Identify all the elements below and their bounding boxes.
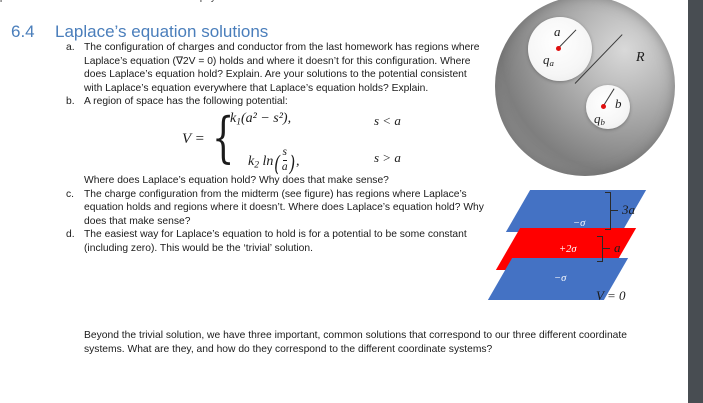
label-charge-qa: qa [543,52,554,68]
label-top-charge-density: −σ [573,218,585,229]
equation-condition-2: s > a [374,151,401,165]
equation-case-2-comma: , [296,154,300,169]
equation-fraction-numerator: s [282,147,288,159]
section-number: 6.4 [11,22,55,42]
label-charge-qa-sub: a [550,58,554,68]
cavity-b [586,85,630,129]
section-title: Laplace’s equation solutions [55,22,268,41]
list-item-a: a. The configuration of charges and cond… [66,41,486,95]
charge-dot-a [556,46,561,51]
list-item-b: b. A region of space has the following p… [66,95,486,187]
piecewise-equation: V = { k1(a² − s²), k2 ln(sa), s < a s > … [84,111,486,173]
label-dimension-a: a [614,240,621,256]
plates-figure: −σ +2σ −σ 3a a V = 0 [492,188,688,313]
list-item-b-followup: Where does Laplace’s equation hold? Why … [84,174,486,188]
list-marker-c: c. [66,188,80,202]
document-page: problem solution set physics 6.4Laplace’… [0,0,688,403]
equation-lhs: V = [182,133,205,147]
equation-case-2-ln: ln [262,154,273,169]
list-marker-b: b. [66,95,80,109]
list-item-c: c. The charge configuration from the mid… [66,188,486,229]
cut-text-2: solution [75,0,109,2]
list-item-b-text: A region of space has the following pote… [84,95,486,109]
problem-list: a. The configuration of charges and cond… [66,41,486,256]
cut-text-4: physics [200,0,233,2]
label-radius-b: b [615,96,622,112]
equation-fraction: sa [282,147,288,173]
conductor-sphere [495,0,675,176]
list-marker-d: d. [66,228,80,242]
list-item-d-text: The easiest way for Laplace’s equation t… [84,228,486,255]
list-item-a-text: The configuration of charges and conduct… [84,41,486,95]
equation-close-paren: ) [289,158,295,172]
label-radius-a: a [554,24,561,40]
equation-open-paren: ( [275,158,281,172]
label-bottom-charge-density: −σ [554,273,566,284]
equation-fraction-denominator: a [282,162,288,174]
bracket-top-gap [605,192,611,230]
cut-text-1: problem [0,0,36,2]
list-marker-a: a. [66,41,80,55]
equation-case-1-rest: (a² − s²), [241,111,291,126]
label-dimension-3a: 3a [622,202,635,218]
charge-dot-b [601,104,606,109]
bracket-tick-bottom [603,248,610,249]
equation-case-2-sub: 2 [254,160,259,170]
equation-case-2: k2 ln(sa), [248,147,300,173]
label-middle-charge-density: +2σ [559,244,577,255]
sphere-figure: a qa b qb R [490,0,688,174]
bracket-bottom-gap [597,236,603,262]
equation-condition-1: s < a [374,114,401,128]
section-heading: 6.4Laplace’s equation solutions [11,22,268,42]
cut-text-3: set [148,0,161,2]
label-potential-zero: V = 0 [596,288,625,304]
list-item-d: d. The easiest way for Laplace’s equatio… [66,228,486,255]
label-charge-qb-sub: b [601,117,605,127]
equation-case-1: k1(a² − s²), [230,112,291,130]
list-item-c-text: The charge configuration from the midter… [84,188,486,229]
label-charge-qb: qb [594,111,605,127]
bracket-tick-top [611,210,618,211]
tail-paragraph: Beyond the trivial solution, we have thr… [84,329,629,356]
label-radius-R: R [636,50,645,66]
window-scrollbar[interactable] [688,0,703,403]
